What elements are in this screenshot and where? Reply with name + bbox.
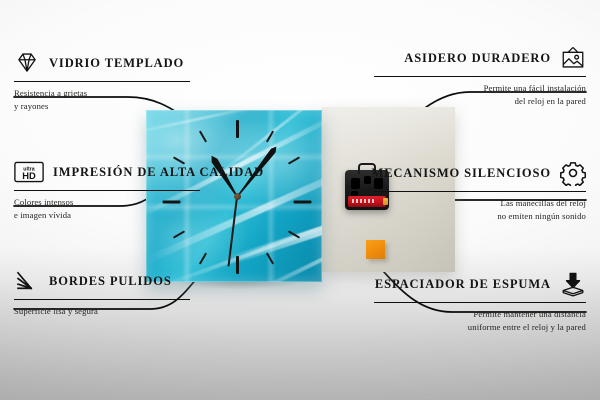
feature-desc: Superficie lisa y segura [14, 305, 190, 317]
feature-title: BORDES PULIDOS [49, 274, 172, 289]
feature-desc: Colores intensos e imagen vívida [14, 196, 200, 221]
movement-detail [351, 178, 360, 189]
feature-desc: Resistencia a grietas y rayones [14, 87, 190, 112]
feature-rule [14, 81, 190, 82]
feature-asidero-duradero: ASIDERO DURADERO Permite una fácil insta… [374, 45, 586, 107]
battery-label-stripes [352, 199, 374, 203]
feature-mecanismo-silencioso: MECANISMO SILENCIOSO Las manecillas del … [374, 160, 586, 222]
movement-detail [364, 176, 371, 184]
feature-title: MECANISMO SILENCIOSO [372, 166, 552, 181]
feature-impresion-alta-calidad: ultra HD IMPRESIÓN DE ALTA CALIDAD Color… [14, 159, 200, 221]
feature-rule [374, 302, 586, 303]
foam-spacer [366, 240, 385, 259]
polished-edges-icon [14, 268, 40, 294]
infographic-canvas: VIDRIO TEMPLADO Resistencia a grietas y … [0, 0, 600, 400]
feature-heading: VIDRIO TEMPLADO [14, 50, 190, 76]
ultra-hd-big-label: HD [22, 171, 36, 181]
gear-icon [560, 160, 586, 186]
arrow-down-pad-icon [560, 271, 586, 297]
feature-heading: MECANISMO SILENCIOSO [374, 160, 586, 186]
feature-title: ASIDERO DURADERO [404, 51, 551, 66]
feature-title: ESPACIADOR DE ESPUMA [375, 277, 551, 292]
feature-heading: ultra HD IMPRESIÓN DE ALTA CALIDAD [14, 159, 200, 185]
feature-heading: BORDES PULIDOS [14, 268, 190, 294]
feature-bordes-pulidos: BORDES PULIDOS Superficie lisa y segura [14, 268, 190, 318]
feature-rule [374, 191, 586, 192]
ultra-hd-icon: ultra HD [14, 159, 44, 185]
feature-title: VIDRIO TEMPLADO [49, 56, 184, 71]
feature-heading: ASIDERO DURADERO [374, 45, 586, 71]
feature-rule [14, 190, 200, 191]
feature-rule [374, 76, 586, 77]
diamond-icon [14, 50, 40, 76]
feature-title: IMPRESIÓN DE ALTA CALIDAD [53, 165, 264, 180]
picture-hanger-icon [560, 45, 586, 71]
feature-rule [14, 299, 190, 300]
feature-vidrio-templado: VIDRIO TEMPLADO Resistencia a grietas y … [14, 50, 190, 112]
feature-heading: ESPACIADOR DE ESPUMA [374, 271, 586, 297]
feature-espaciador-espuma: ESPACIADOR DE ESPUMA Permite mantener un… [374, 271, 586, 333]
feature-desc: Las manecillas del reloj no emiten ningú… [374, 197, 586, 222]
feature-desc: Permite una fácil instalación del reloj … [374, 82, 586, 107]
feature-desc: Permite mantener una distancia uniforme … [374, 308, 586, 333]
